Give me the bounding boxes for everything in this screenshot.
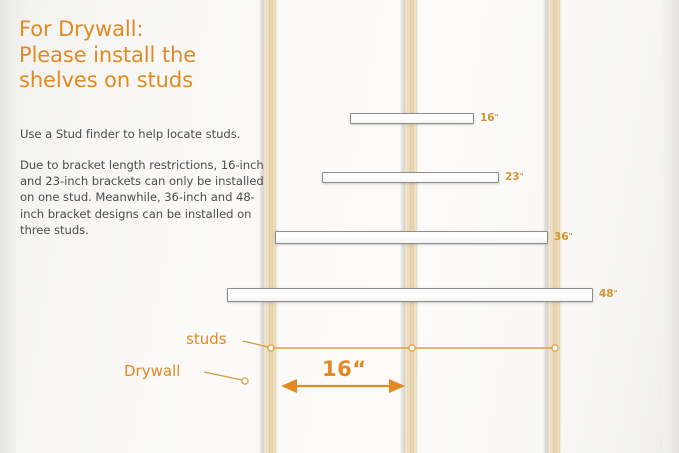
- annotation-overlay: [0, 0, 679, 453]
- stud-marker-2: [409, 345, 415, 351]
- studs-leader-line: [243, 341, 268, 347]
- marker-circles: [242, 345, 558, 384]
- drywall-label: Drywall: [124, 362, 180, 380]
- drywall-marker: [242, 378, 248, 384]
- dimension-arrow: [281, 379, 405, 393]
- stud-marker-1: [268, 345, 274, 351]
- dimension-arrowhead-right: [389, 379, 405, 393]
- dimension-arrowhead-left: [281, 379, 297, 393]
- drywall-leader-line: [204, 372, 242, 380]
- stud-marker-3: [552, 345, 558, 351]
- dimension-label: 16“: [322, 357, 367, 381]
- studs-label: studs: [186, 330, 227, 348]
- drywall-instruction-graphic: For Drywall: Please install the shelves …: [0, 0, 679, 453]
